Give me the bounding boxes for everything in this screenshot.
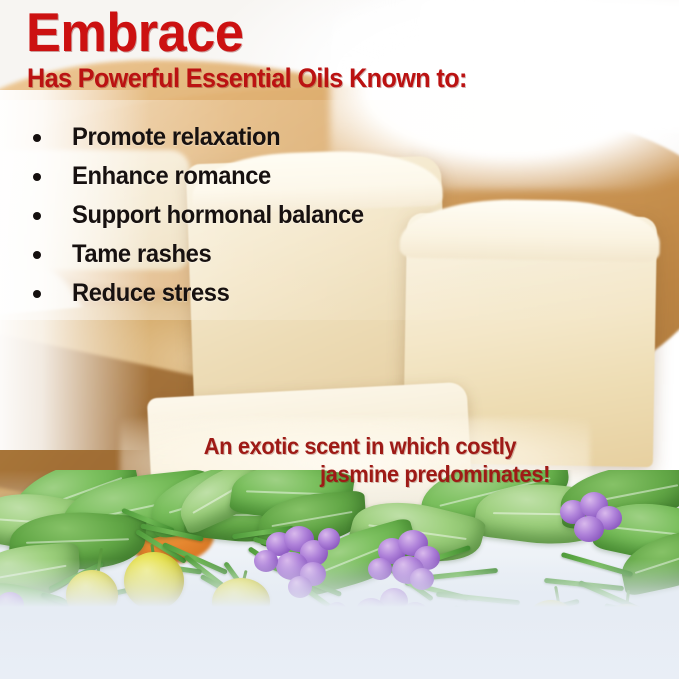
- list-item: Reduce stress: [30, 274, 379, 313]
- bullet-dot-icon: [33, 251, 41, 259]
- benefit-label: Enhance romance: [72, 162, 271, 191]
- scent-caption-line-1: An exotic scent in which costly: [161, 432, 560, 460]
- list-item: Promote relaxation: [30, 118, 379, 157]
- benefit-label: Tame rashes: [72, 240, 211, 269]
- product-poster: Embrace Has Powerful Essential Oils Know…: [0, 0, 679, 679]
- bullet-dot-icon: [33, 212, 41, 220]
- scent-caption-line-2: jasmine predominates!: [161, 460, 560, 488]
- benefits-list: Promote relaxation Enhance romance Suppo…: [30, 118, 379, 313]
- bullet-dot-icon: [33, 173, 41, 181]
- list-item: Support hormonal balance: [30, 196, 379, 235]
- list-item: Tame rashes: [30, 235, 379, 274]
- benefit-label: Support hormonal balance: [72, 201, 364, 230]
- benefit-label: Reduce stress: [72, 279, 229, 308]
- bullet-dot-icon: [33, 134, 41, 142]
- scent-caption: An exotic scent in which costly jasmine …: [150, 432, 570, 488]
- benefit-label: Promote relaxation: [72, 123, 280, 152]
- product-title: Embrace: [26, 4, 243, 62]
- list-item: Enhance romance: [30, 157, 379, 196]
- bullet-dot-icon: [33, 290, 41, 298]
- product-subtitle: Has Powerful Essential Oils Known to:: [27, 63, 467, 94]
- poster-text-layer: Embrace Has Powerful Essential Oils Know…: [0, 0, 679, 679]
